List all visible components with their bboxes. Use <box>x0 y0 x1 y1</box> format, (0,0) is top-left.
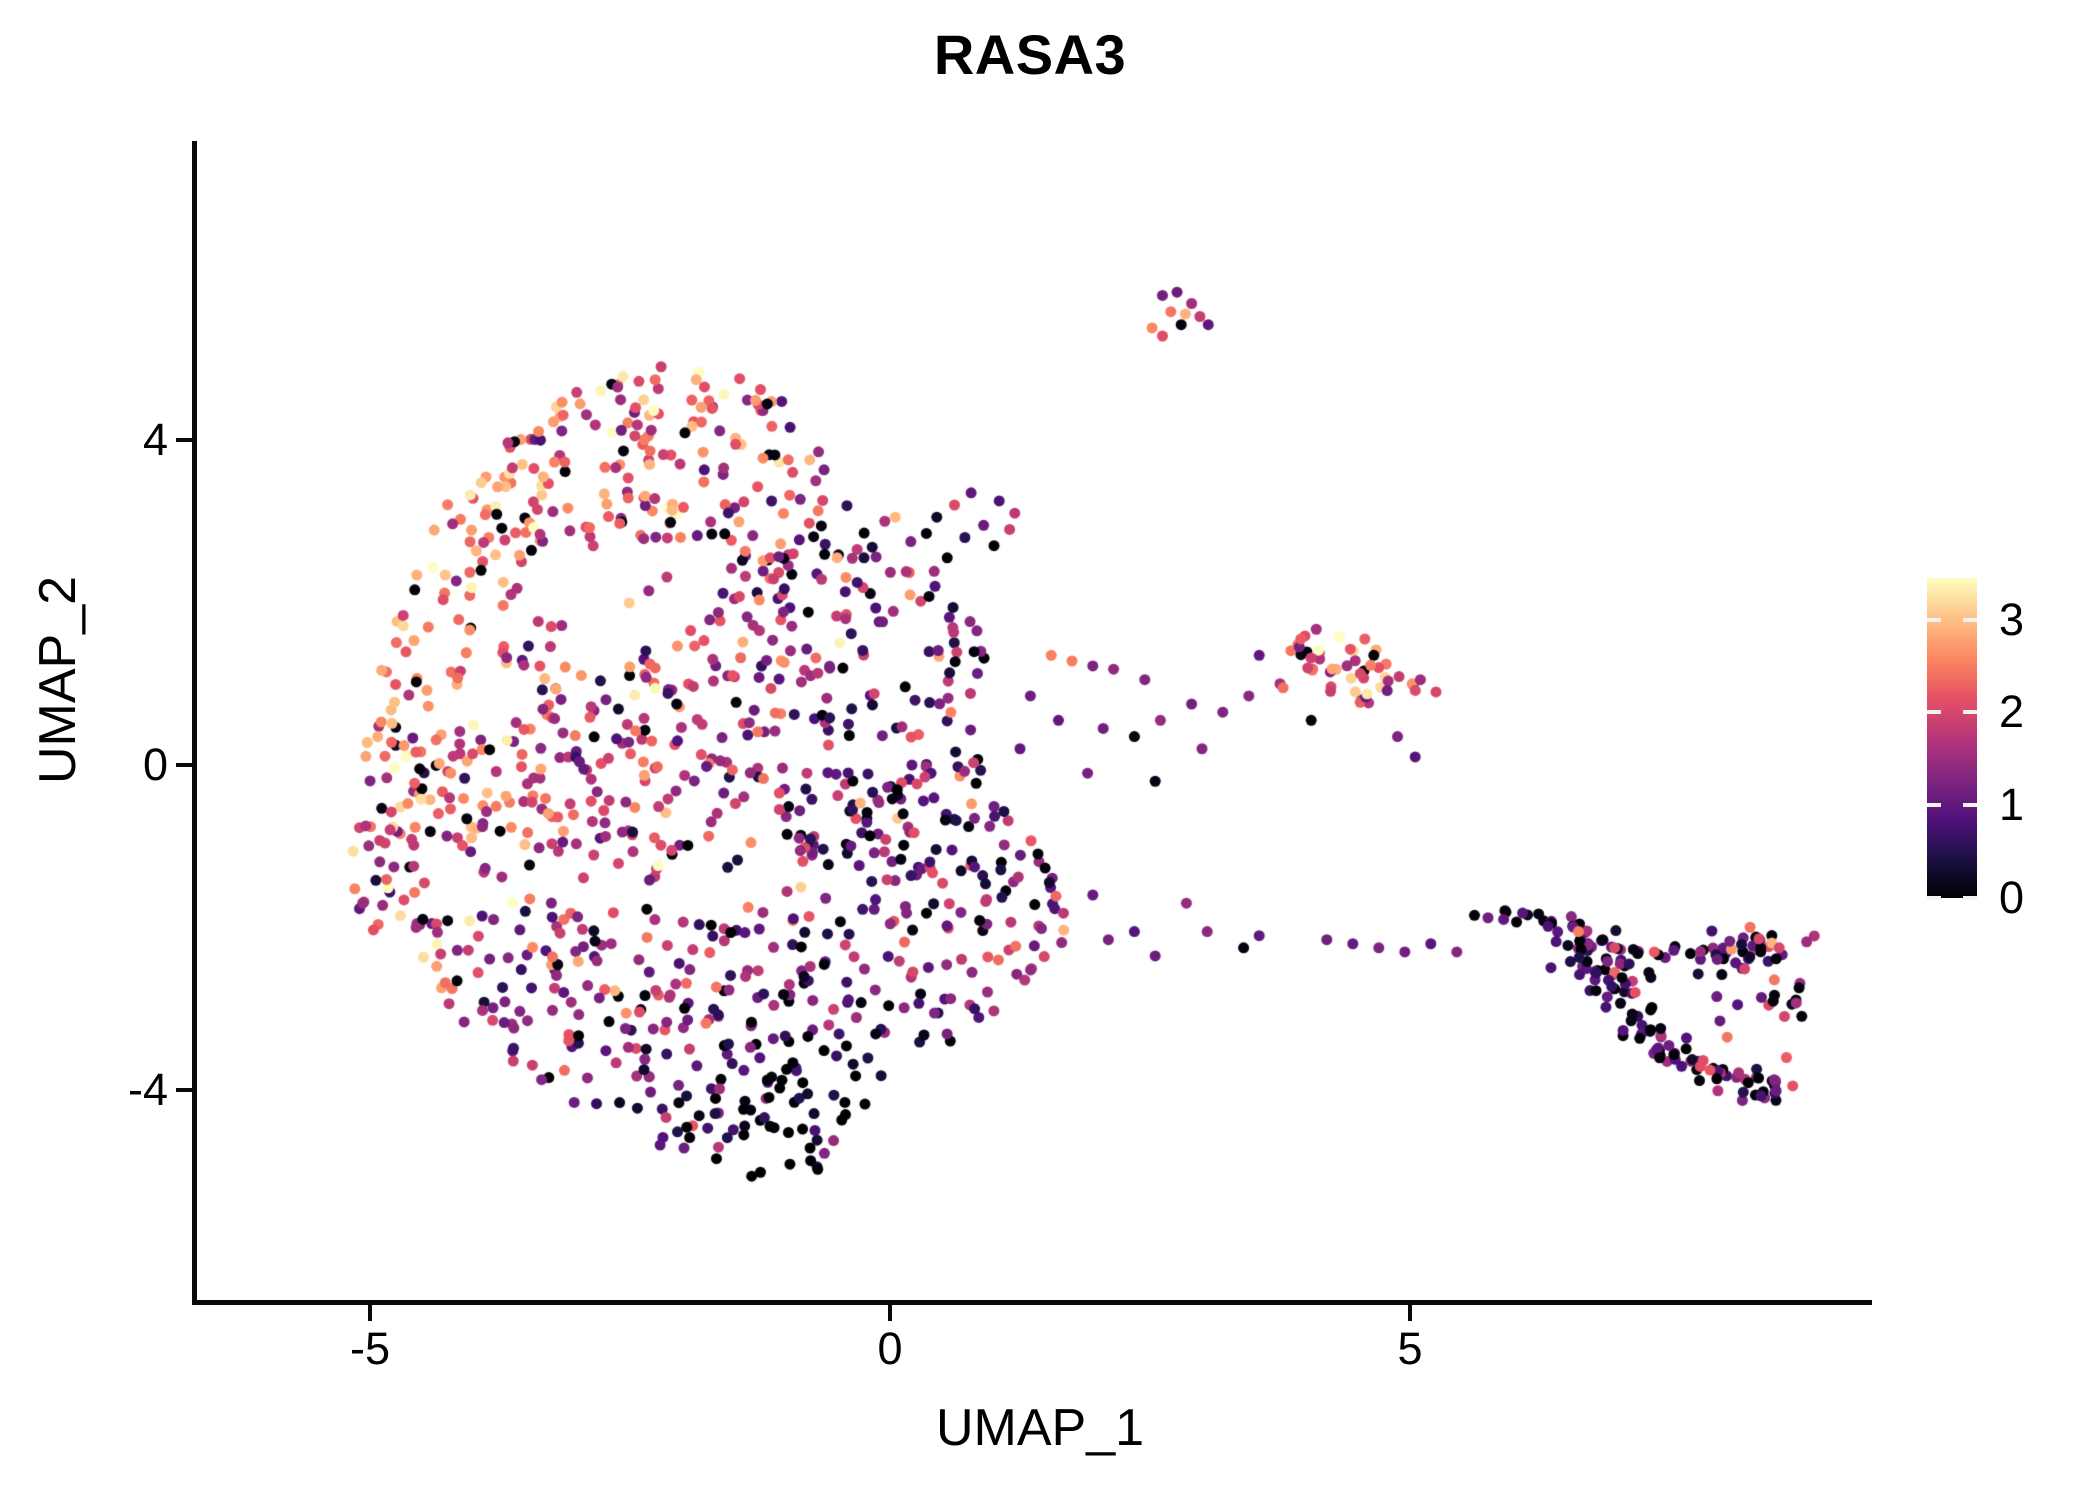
x-tick-mark <box>888 1305 892 1321</box>
x-tick-mark <box>368 1305 372 1321</box>
y-axis-title: UMAP_2 <box>28 300 88 1060</box>
y-tick-mark <box>176 438 192 442</box>
colorbar-tick-mark <box>1963 803 1977 807</box>
y-tick-label: -4 <box>48 1067 168 1113</box>
y-tick-mark <box>176 1088 192 1092</box>
colorbar-tick-mark <box>1963 896 1977 900</box>
colorbar-gradient <box>1927 578 1977 898</box>
colorbar-tick-mark <box>1927 710 1941 714</box>
colorbar-tick-mark <box>1927 896 1941 900</box>
colorbar-tick-label: 3 <box>1999 597 2024 642</box>
colorbar-legend: 3210 <box>1927 578 2087 900</box>
x-tick-label: 5 <box>1340 1326 1480 1372</box>
y-tick-mark <box>176 763 192 767</box>
colorbar-tick-label: 0 <box>1999 875 2024 920</box>
colorbar-tick-mark <box>1963 618 1977 622</box>
x-tick-label: 0 <box>820 1326 960 1372</box>
umap-feature-plot: RASA3 -404-505 UMAP_2 UMAP_1 3210 <box>0 0 2100 1500</box>
colorbar-tick-label: 2 <box>1999 689 2024 734</box>
x-tick-label: -5 <box>300 1326 440 1372</box>
colorbar-tick-mark <box>1927 803 1941 807</box>
colorbar-tick-label: 1 <box>1999 782 2024 827</box>
plot-panel <box>195 141 1872 1302</box>
colorbar-tick-mark <box>1927 618 1941 622</box>
scatter-points-canvas <box>195 141 1872 1302</box>
x-axis-title: UMAP_1 <box>720 1398 1360 1458</box>
x-tick-mark <box>1408 1305 1412 1321</box>
page-title: RASA3 <box>0 22 2060 87</box>
colorbar-tick-mark <box>1963 710 1977 714</box>
